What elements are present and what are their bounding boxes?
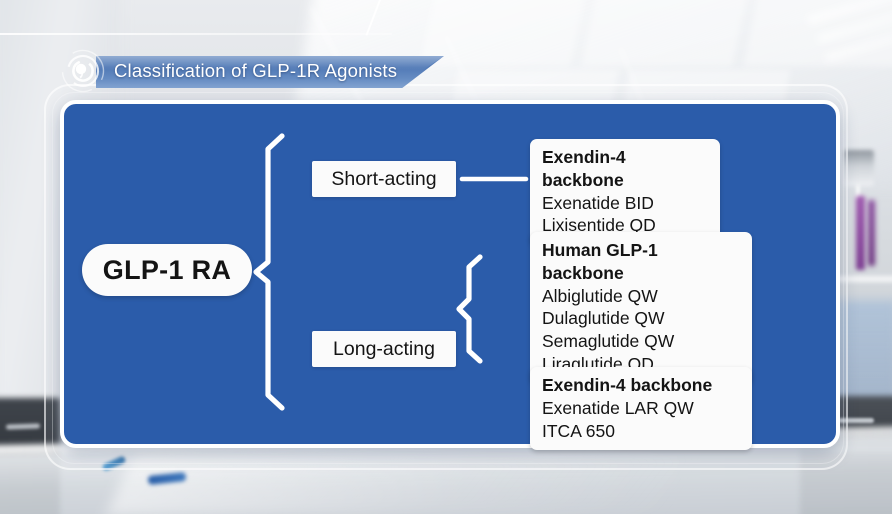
node-short-acting-label: Short-acting [331,168,436,191]
page-title: Classification of GLP-1R Agonists [114,60,397,82]
header-banner: Classification of GLP-1R Agonists [96,56,444,88]
node-short-acting[interactable]: Short-acting [312,161,456,197]
node-long-acting-label: Long-acting [333,338,435,361]
node-glp1-ra-label: GLP-1 RA [103,255,231,286]
group-exendin-4-short[interactable]: Exendin-4 backbone Exenatide BID Lixisen… [530,139,720,245]
shelf-item [856,196,865,270]
shelf-item [868,200,875,266]
group-heading: Human GLP-1 backbone [542,239,740,285]
group-item: Exenatide BID [542,192,708,215]
node-glp1-ra[interactable]: GLP-1 RA [82,244,252,296]
radar-sonar-icon [60,48,106,94]
node-long-acting[interactable]: Long-acting [312,331,456,367]
group-heading: Exendin-4 backbone [542,146,708,192]
group-item: ITCA 650 [542,420,740,443]
diagram-panel: GLP-1 RA Short-acting Long-acting Exendi… [60,100,840,448]
ceiling-tile [420,0,590,66]
group-item: Dulaglutide QW [542,307,740,330]
group-item: Semaglutide QW [542,330,740,353]
group-human-glp1[interactable]: Human GLP-1 backbone Albiglutide QW Dula… [530,232,752,384]
group-exendin-4-long[interactable]: Exendin-4 backbone Exenatide LAR QW ITCA… [530,367,752,450]
ceiling-fixture [844,150,874,186]
group-item: Albiglutide QW [542,285,740,308]
group-heading: Exendin-4 backbone [542,374,740,397]
group-item: Exenatide LAR QW [542,397,740,420]
ceiling-tile [582,0,752,66]
ceiling-tile [744,0,892,66]
screenshot-root: Classification of GLP-1R Agonists GLP-1 … [0,0,892,514]
header-bottom-rule [0,33,392,35]
